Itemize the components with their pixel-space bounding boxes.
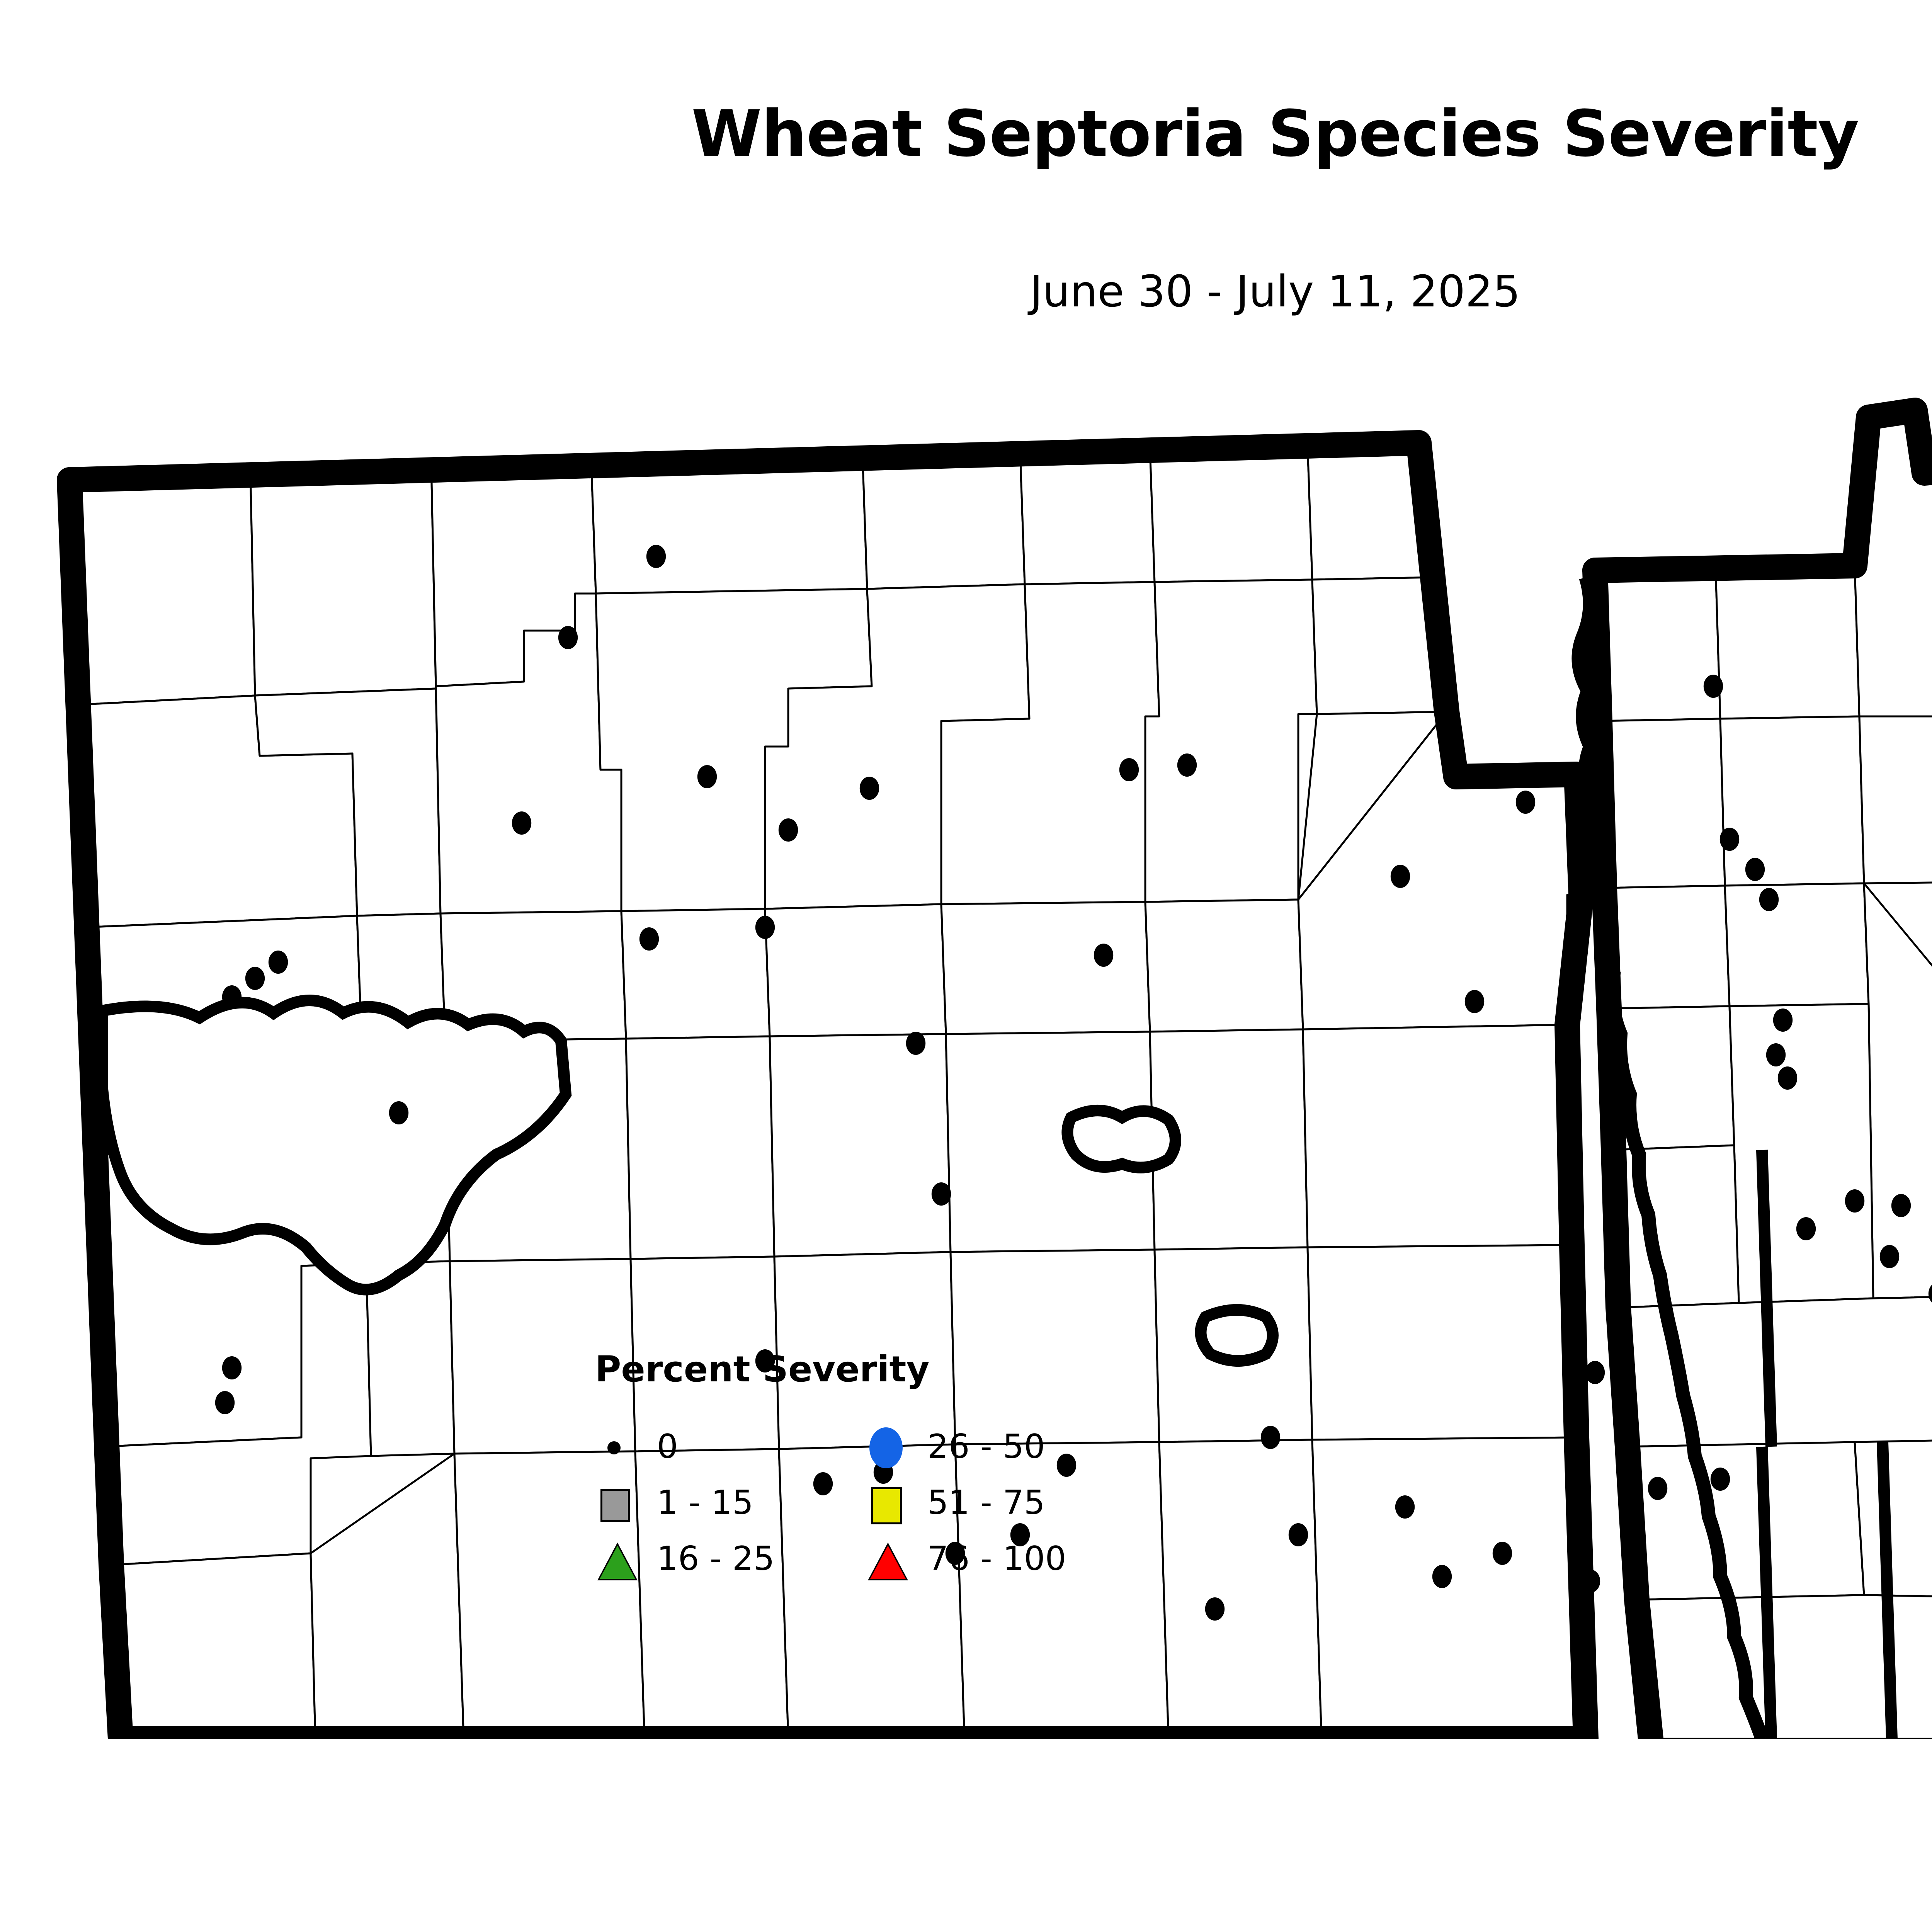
survey-point	[1648, 1477, 1667, 1500]
survey-point	[1205, 1597, 1225, 1621]
survey-point	[512, 811, 531, 835]
legend-title: Percent Severity	[595, 1349, 930, 1390]
survey-point	[245, 967, 265, 990]
survey-point	[1778, 1066, 1797, 1090]
survey-point	[1574, 851, 1593, 874]
survey-point	[755, 916, 775, 939]
legend-label-1: 1 - 15	[657, 1483, 753, 1522]
survey-point	[1891, 1194, 1911, 1217]
survey-point	[1796, 1217, 1816, 1240]
survey-point	[215, 1391, 235, 1414]
survey-point	[1432, 1565, 1452, 1588]
survey-point	[1585, 1361, 1605, 1384]
survey-point	[1177, 753, 1197, 777]
survey-point	[1720, 828, 1739, 851]
survey-point	[779, 818, 798, 842]
survey-point	[1516, 791, 1535, 814]
legend-label-0: 0	[657, 1427, 678, 1466]
survey-point	[269, 951, 288, 974]
survey-point	[1773, 1009, 1793, 1032]
survey-point	[1465, 990, 1484, 1013]
legend-label-4: 51 - 75	[927, 1483, 1045, 1522]
blue-circle-icon	[866, 1426, 908, 1468]
legend-label-2: 16 - 25	[657, 1539, 775, 1578]
survey-point	[697, 765, 717, 788]
survey-point	[558, 626, 578, 649]
red-triangle-icon	[866, 1538, 908, 1580]
gray-square-icon	[595, 1482, 638, 1524]
survey-point	[1289, 1523, 1308, 1546]
survey-point	[1395, 1495, 1415, 1519]
survey-point	[1119, 758, 1139, 781]
poster-root: Wheat Septoria Species Severity June 30 …	[0, 0, 1932, 1932]
survey-point	[646, 545, 666, 568]
devils-lake	[1067, 1111, 1175, 1168]
survey-point	[932, 1182, 951, 1206]
survey-point	[1391, 865, 1410, 888]
survey-point	[1711, 1468, 1730, 1491]
yellow-square-icon	[866, 1482, 908, 1524]
page-title: Wheat Septoria Species Severity	[0, 97, 1932, 171]
survey-point	[1493, 1542, 1512, 1565]
survey-point	[389, 1101, 408, 1124]
page-subtitle: June 30 - July 11, 2025	[0, 267, 1932, 317]
green-triangle-icon	[595, 1538, 638, 1580]
survey-point	[1759, 888, 1779, 911]
survey-point	[860, 777, 879, 800]
survey-point	[1766, 1043, 1786, 1066]
survey-point	[1261, 1426, 1280, 1449]
survey-point	[222, 1356, 241, 1379]
legend-label-5: 76 - 100	[927, 1539, 1066, 1578]
legend: Percent Severity 0 1 - 15 16 - 25 26 - 5…	[595, 1349, 1136, 1588]
legend-label-3: 26 - 50	[927, 1427, 1045, 1466]
survey-point	[906, 1032, 925, 1055]
survey-point	[222, 985, 241, 1009]
survey-point	[1581, 1570, 1600, 1593]
survey-point	[1094, 944, 1113, 967]
survey-point	[1845, 1189, 1864, 1213]
small-black-dot-icon	[595, 1426, 638, 1468]
survey-point	[1745, 858, 1765, 881]
survey-point	[639, 927, 659, 951]
survey-point	[1880, 1245, 1899, 1268]
survey-point	[1704, 675, 1723, 698]
interior-lake	[1201, 1310, 1273, 1361]
